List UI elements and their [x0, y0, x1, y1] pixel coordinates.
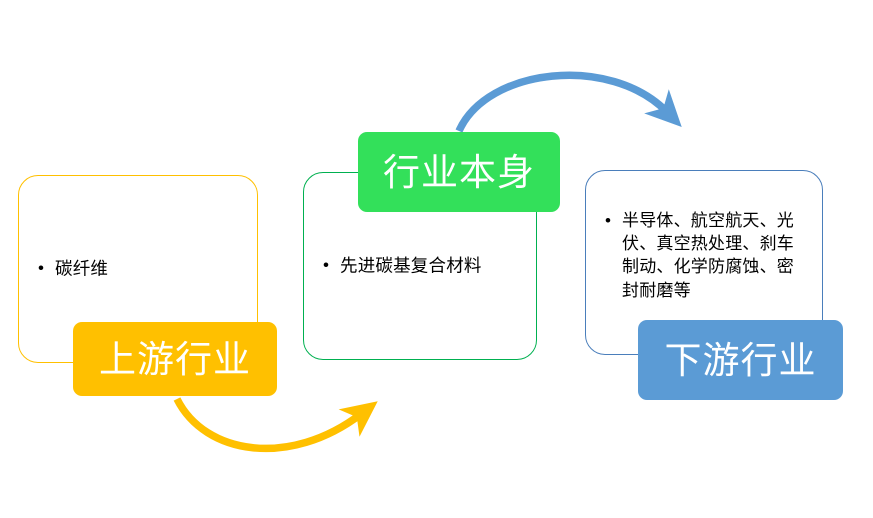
list-item: 半导体、航空航天、光伏、真空热处理、刹车制动、化学防腐蚀、密封耐磨等: [602, 209, 808, 301]
upstream-badge[interactable]: 上游行业: [73, 322, 277, 396]
arrow-self-to-downstream: [459, 75, 667, 131]
list-item: 碳纤维: [35, 257, 243, 280]
downstream-bullet-list: 半导体、航空航天、光伏、真空热处理、刹车制动、化学防腐蚀、密封耐磨等: [586, 209, 822, 301]
list-item: 先进碳基复合材料: [320, 254, 522, 277]
industry-self-badge[interactable]: 行业本身: [358, 132, 560, 212]
industry-self-bullet-list: 先进碳基复合材料: [304, 254, 536, 277]
arrow-upstream-to-self: [177, 399, 361, 448]
diagram-canvas: 碳纤维 先进碳基复合材料 半导体、航空航天、光伏、真空热处理、刹车制动、化学防腐…: [0, 0, 873, 518]
downstream-badge[interactable]: 下游行业: [638, 320, 843, 400]
upstream-bullet-list: 碳纤维: [19, 257, 257, 280]
